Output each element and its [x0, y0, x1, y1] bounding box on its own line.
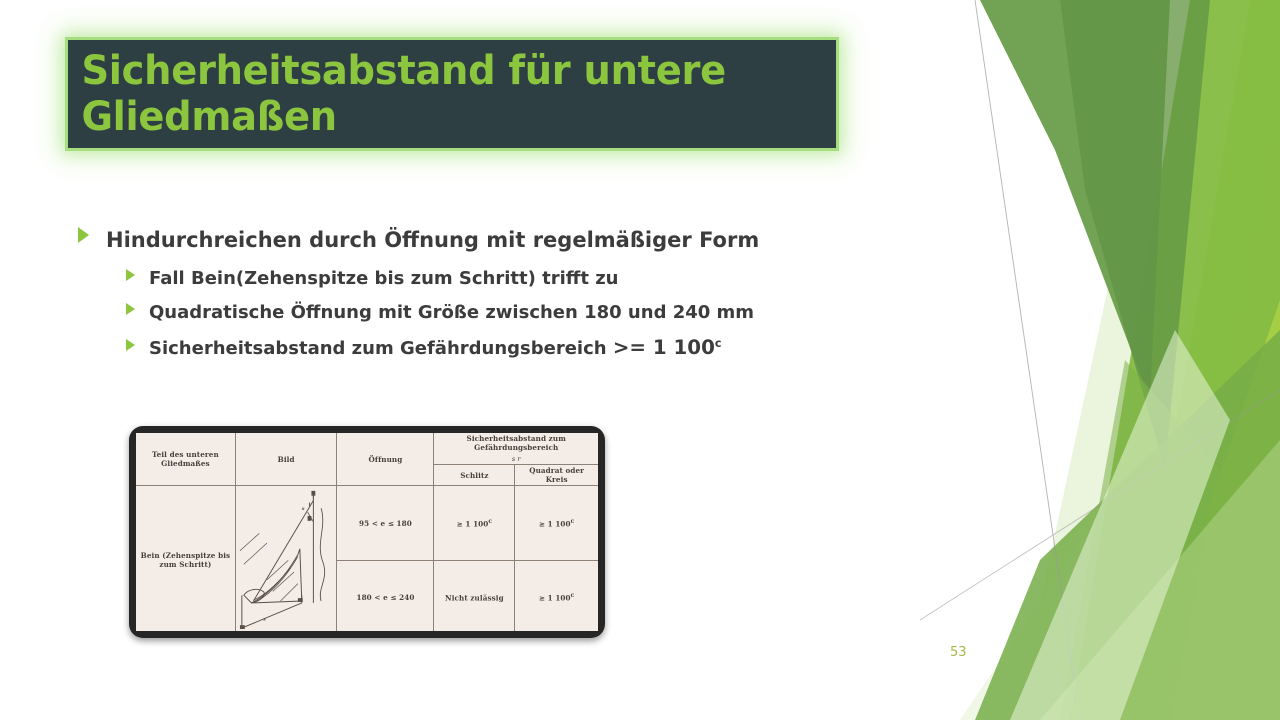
triangle-bullet-icon [126, 269, 135, 281]
cell-square-1: ≥ 1 100c [515, 486, 598, 561]
slide: Sicherheitsabstand für untere Gliedmaßen… [0, 0, 1280, 720]
table-row: Bein (Zehenspitze bis zum Schritt) [136, 486, 598, 561]
triangle-bullet-icon [78, 227, 89, 243]
technical-sketch-icon: s s [238, 487, 335, 631]
standards-table: Teil des unteren Gliedmaßes Bild Öffnung… [136, 433, 598, 631]
bullet-text-safety-distance: Sicherheitsabstand zum Gefährdungsbereic… [149, 336, 721, 359]
cell-slot-1: ≥ 1 100c [434, 486, 515, 561]
column-header-square-or-circle: Quadrat oder Kreis [515, 465, 598, 486]
cell-opening-2: 180 < e ≤ 240 [337, 561, 434, 631]
cell-square-2: ≥ 1 100c [515, 561, 598, 631]
cell-sketch: s s [235, 486, 337, 631]
photo-reflection [129, 640, 605, 718]
table-header-row-1: Teil des unteren Gliedmaßes Bild Öffnung… [136, 433, 598, 465]
svg-text:s: s [263, 616, 266, 622]
column-header-opening: Öffnung [337, 433, 434, 486]
svg-text:s: s [302, 506, 305, 512]
cell-opening-1: 95 < e ≤ 180 [337, 486, 434, 561]
triangle-bullet-icon [126, 339, 135, 351]
list-item: Fall Bein(Zehenspitze bis zum Schritt) t… [126, 268, 878, 289]
photo-content: Teil des unteren Gliedmaßes Bild Öffnung… [136, 433, 598, 631]
bullet-text-value: >= 1 100 [613, 336, 715, 359]
column-header-limb-part: Teil des unteren Gliedmaßes [136, 433, 235, 486]
list-item: Hindurchreichen durch Öffnung mit regelm… [78, 228, 878, 252]
decorative-green-graphic [920, 0, 1280, 720]
bullet-text: Quadratische Öffnung mit Größe zwischen … [149, 302, 754, 323]
column-header-group-safety-distance: Sicherheitsabstand zum Gefährdungsbereic… [434, 433, 598, 465]
slide-title-box: Sicherheitsabstand für untere Gliedmaßen [68, 40, 836, 148]
bullet-text: Fall Bein(Zehenspitze bis zum Schritt) t… [149, 268, 619, 289]
list-item: Quadratische Öffnung mit Größe zwischen … [126, 302, 878, 323]
bullet-text-prefix: Sicherheitsabstand zum Gefährdungsbereic… [149, 338, 613, 359]
column-header-slot: Schlitz [434, 465, 515, 486]
row-label-leg: Bein (Zehenspitze bis zum Schritt) [136, 486, 235, 631]
bullet-list: Hindurchreichen durch Öffnung mit regelm… [78, 228, 878, 372]
bullet-text: Hindurchreichen durch Öffnung mit regelm… [106, 228, 759, 252]
group-header-label: Sicherheitsabstand zum Gefährdungsbereic… [467, 434, 566, 452]
triangle-bullet-icon [126, 303, 135, 315]
scanned-table-figure: Teil des unteren Gliedmaßes Bild Öffnung… [129, 426, 605, 638]
page-title: Sicherheitsabstand für untere Gliedmaßen [68, 48, 805, 140]
column-header-picture: Bild [235, 433, 337, 486]
photo-frame: Teil des unteren Gliedmaßes Bild Öffnung… [129, 426, 605, 638]
list-item: Sicherheitsabstand zum Gefährdungsbereic… [126, 336, 878, 359]
bullet-text-superscript: c [715, 337, 722, 350]
group-header-symbol: s r [436, 455, 596, 463]
cell-slot-2: Nicht zulässig [434, 561, 515, 631]
page-number: 53 [950, 645, 967, 660]
